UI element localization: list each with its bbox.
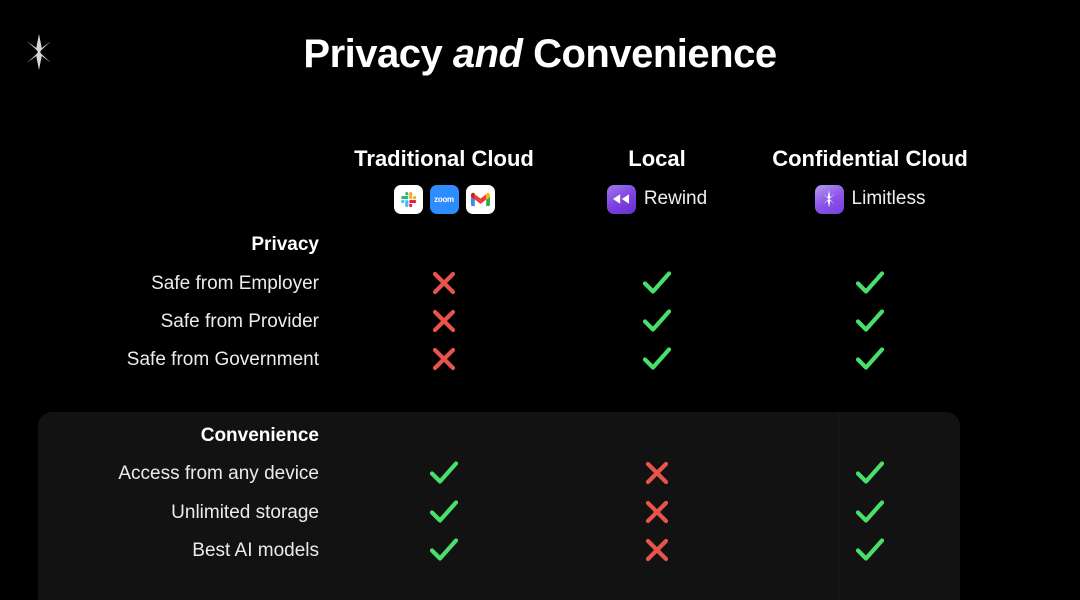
check-icon — [422, 456, 466, 490]
row-label: Unlimited storage — [171, 503, 319, 522]
check-icon — [635, 304, 679, 338]
cross-icon — [635, 495, 679, 529]
row-label: Safe from Government — [127, 350, 319, 369]
check-icon — [635, 266, 679, 300]
row-label: Access from any device — [118, 464, 319, 483]
section-heading-privacy: Privacy — [251, 235, 319, 254]
check-icon — [422, 533, 466, 567]
cross-icon — [422, 342, 466, 376]
comparison-grid: PrivacySafe from EmployerSafe from Provi… — [0, 0, 1080, 600]
row-label: Safe from Provider — [161, 312, 319, 331]
cross-icon — [635, 456, 679, 490]
cross-icon — [422, 266, 466, 300]
slide-root: Privacy and Convenience Traditional Clou… — [0, 0, 1080, 600]
cross-icon — [422, 304, 466, 338]
check-icon — [848, 304, 892, 338]
check-icon — [635, 342, 679, 376]
section-heading-convenience: Convenience — [201, 426, 319, 445]
check-icon — [848, 495, 892, 529]
row-label: Best AI models — [192, 541, 319, 560]
check-icon — [848, 456, 892, 490]
check-icon — [848, 266, 892, 300]
cross-icon — [635, 533, 679, 567]
row-label: Safe from Employer — [151, 274, 319, 293]
check-icon — [848, 342, 892, 376]
check-icon — [422, 495, 466, 529]
check-icon — [848, 533, 892, 567]
